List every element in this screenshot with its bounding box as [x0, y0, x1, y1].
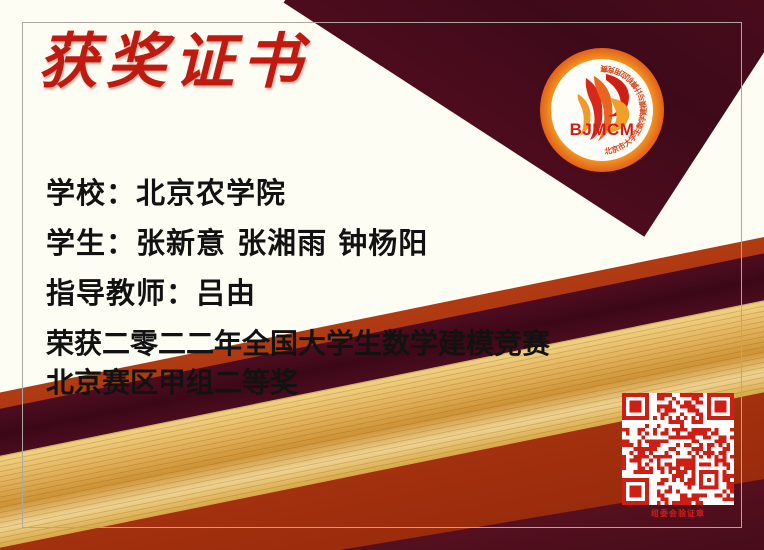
- award-line-1: 荣获二零二二年全国大学生数学建模竞赛: [46, 327, 746, 360]
- certificate-title: 获奖证书: [38, 28, 310, 97]
- logo-ring-label: 北京市大学生数学建模与计算机应用竞赛: [600, 64, 648, 156]
- certificate-body: 学校：北京农学院 学生：张新意 张湘雨 钟杨阳 指导教师：吕由 荣获二零二二年全…: [46, 176, 746, 405]
- logo-ring-text: 北京市大学生数学建模与计算机应用竞赛: [540, 48, 664, 172]
- qr-caption: 组委会验证章: [617, 508, 739, 519]
- field-school: 学校：北京农学院: [46, 176, 746, 210]
- qr-code-icon: [622, 393, 734, 505]
- ribbon-top-gold: [356, 0, 764, 5]
- field-advisor: 指导教师：吕由: [46, 276, 746, 310]
- qr-seal-block: 组委会验证章: [617, 393, 739, 519]
- certificate-page: 获奖证书 北京市大学生数学建模与计算机应用竞赛 BJMCM 学校：北京农学院 学…: [0, 0, 764, 550]
- logo-acronym: BJMCM: [540, 120, 664, 140]
- field-students: 学生：张新意 张湘雨 钟杨阳: [46, 226, 746, 260]
- bjmcm-logo: 北京市大学生数学建模与计算机应用竞赛 BJMCM: [540, 48, 664, 172]
